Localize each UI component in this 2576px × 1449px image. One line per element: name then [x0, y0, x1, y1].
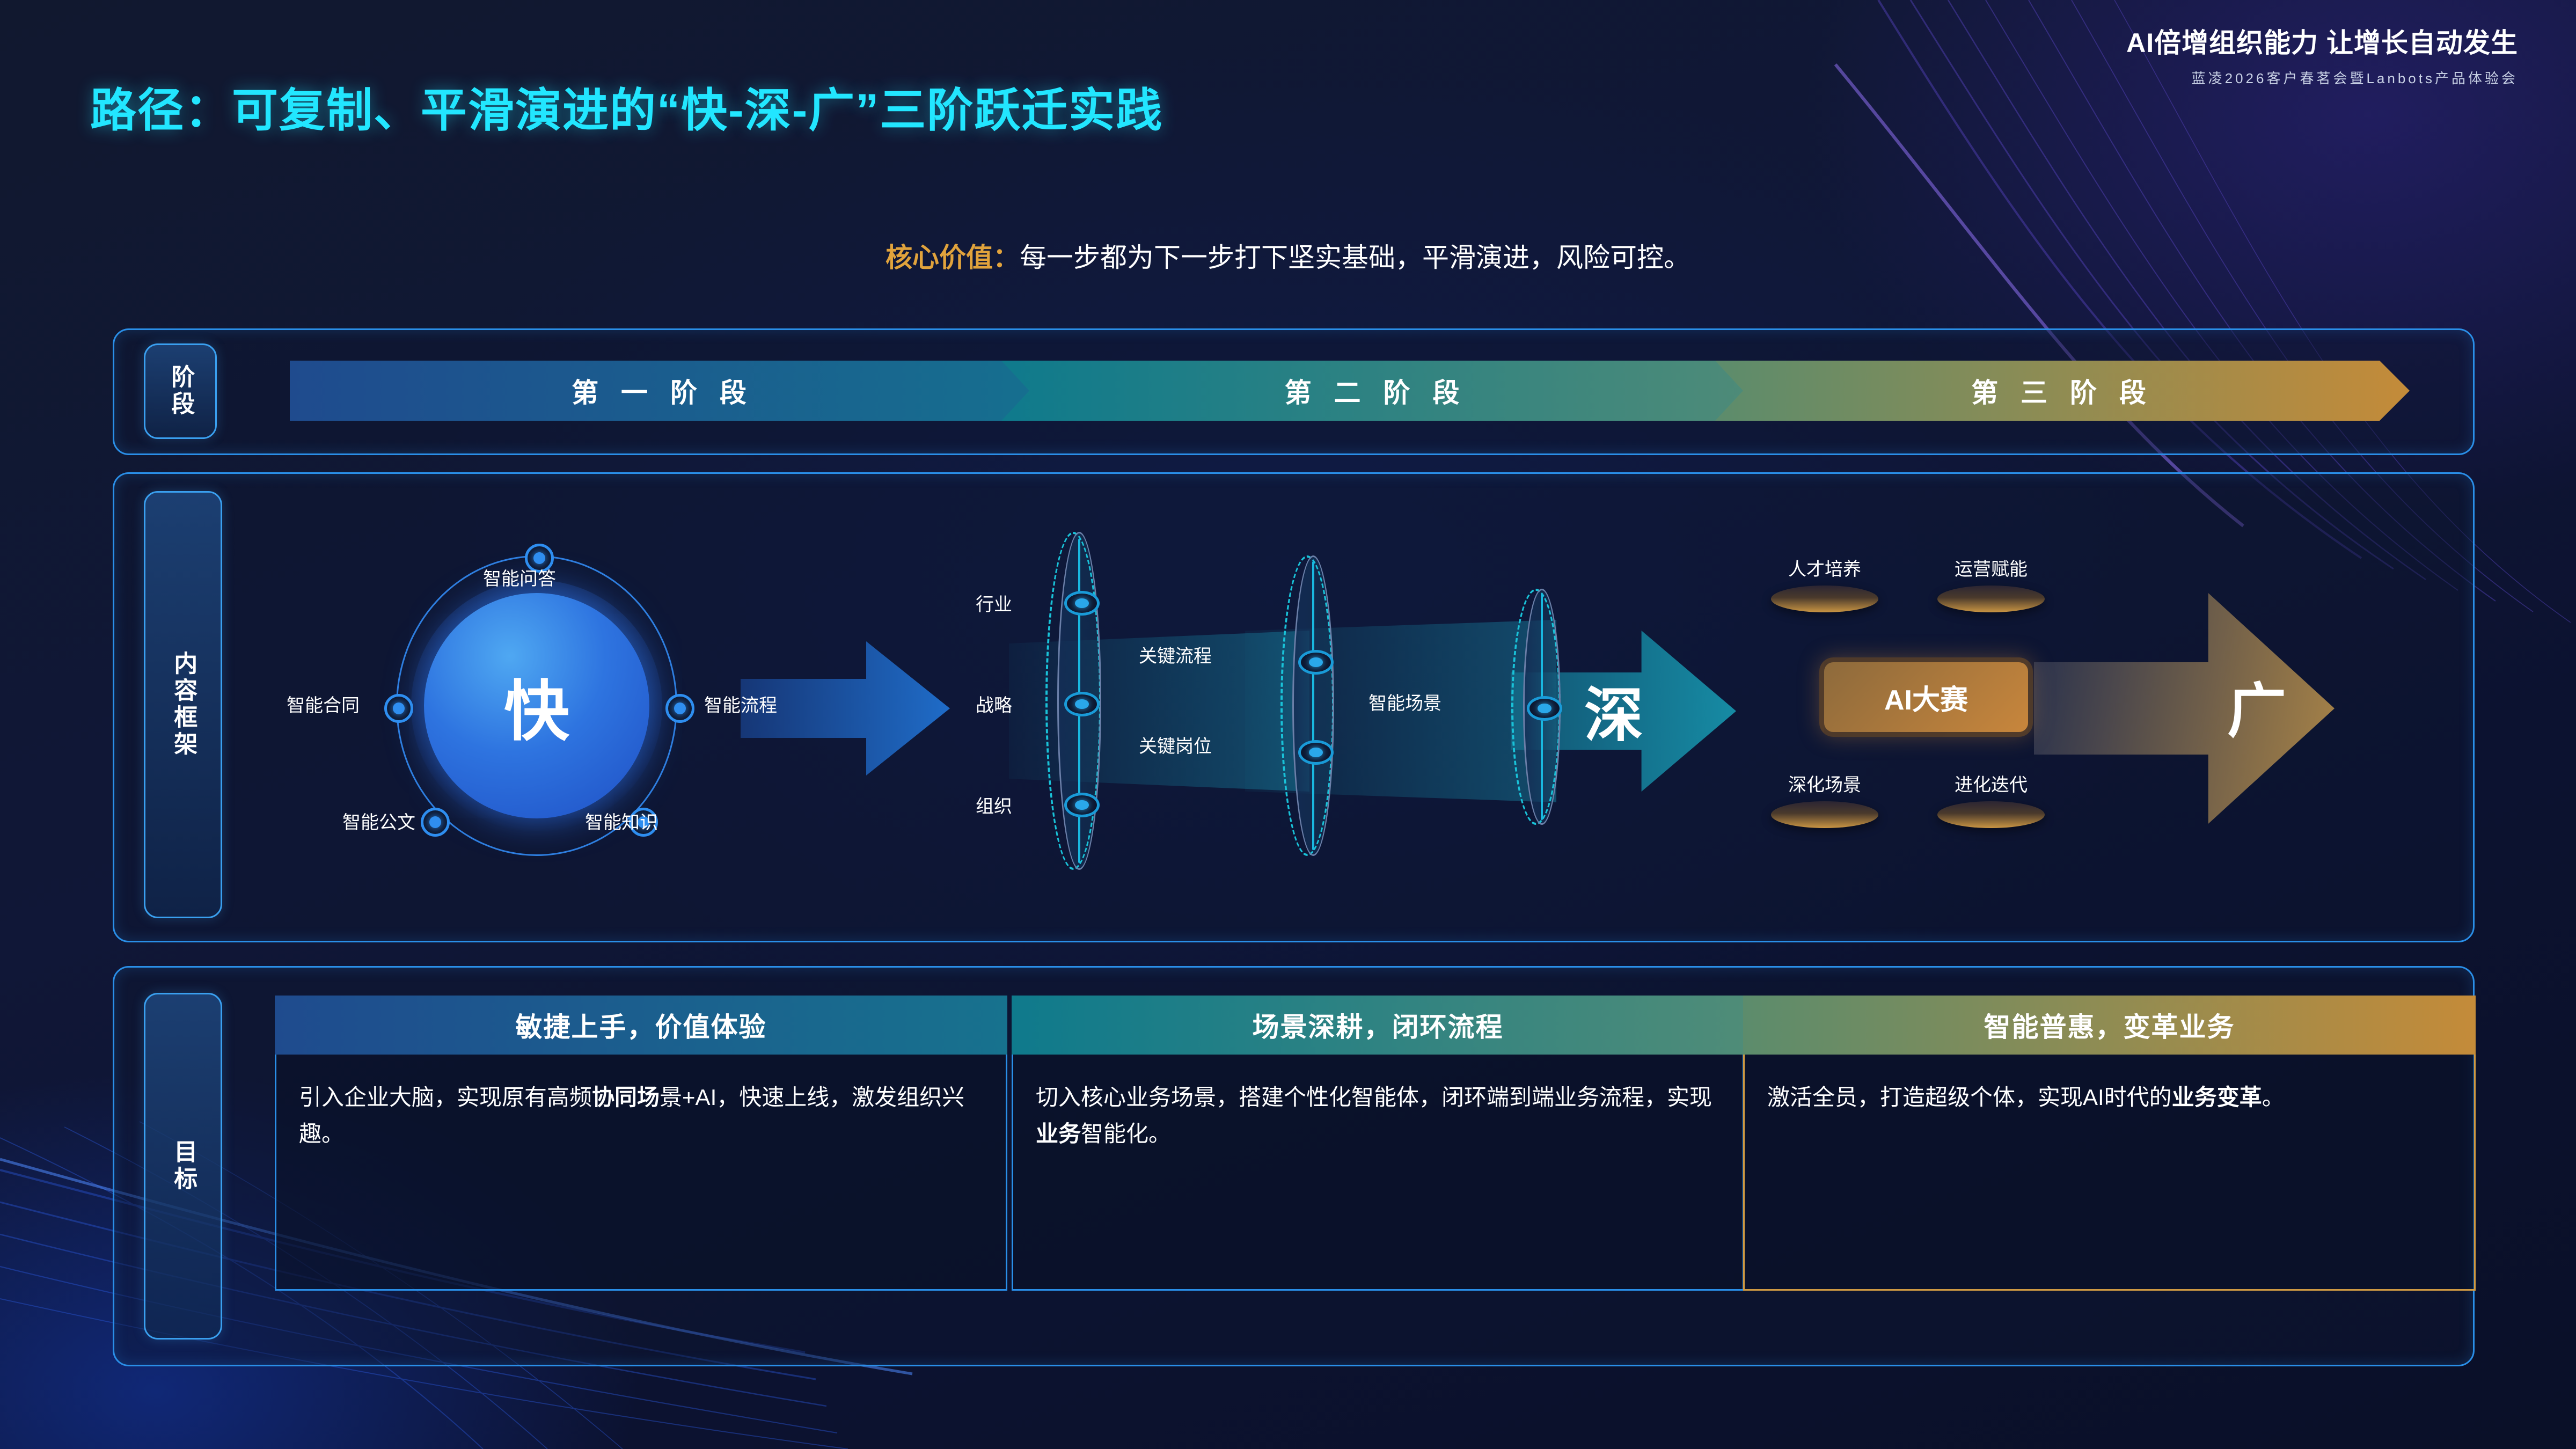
gate-1-node-1[interactable]: [1064, 591, 1100, 616]
stage-3-platform-top-left: [1771, 586, 1878, 612]
goal-card-2-body-pre: 切入核心业务场景，搭建个性化智能体，闭环端到端业务流程，实现: [1036, 1085, 1712, 1110]
gate-3-node-1[interactable]: [1527, 696, 1562, 721]
goal-card-3-body-post: 。: [2262, 1085, 2285, 1110]
stage-3-center-label: AI大赛: [1884, 677, 1968, 718]
phase-chevron-3[interactable]: 第 三 阶 段: [1715, 361, 2410, 421]
core-value-subtitle: 核心价值：每一步都为下一步打下坚实基础，平滑演进，风险可控。: [0, 236, 2576, 275]
stage-1-core-label: 快: [504, 658, 569, 753]
brand-main-text: AI倍增组织能力 让增长自动发生: [2126, 21, 2518, 60]
gate-2-spine: [1312, 561, 1314, 850]
phase-chevron-1-label: 第 一 阶 段: [572, 371, 754, 410]
gate-2-node-1[interactable]: [1298, 650, 1334, 675]
goal-card-2-title: 场景深耕，闭环流程: [1012, 996, 1744, 1055]
stage-2-gate-2-label-1: 关键流程: [1139, 641, 1212, 668]
stage-2-gate-1-label-1: 行业: [976, 590, 1012, 616]
goal-card-1-body: 引入企业大脑，实现原有高频协同场景+AI，快速上线，激发组织兴趣。: [275, 1055, 1007, 1291]
stage-3-arrow-icon: [2034, 593, 2334, 824]
gate-2-node-2[interactable]: [1298, 740, 1334, 765]
stage-1-node-left[interactable]: [384, 694, 413, 723]
brand-sub-text: 蓝凌2026客户春茗会暨Lanbots产品体验会: [2126, 68, 2518, 87]
stage-3-platform-top-right: [1937, 586, 2045, 612]
goal-card-3[interactable]: 智能普惠，变革业务 激活全员，打造超级个体，实现AI时代的业务变革。: [1743, 996, 2476, 1291]
stage-1-label-right: 智能流程: [704, 691, 777, 717]
goal-card-2-body-bold: 业务: [1036, 1121, 1081, 1146]
goal-card-3-body: 激活全员，打造超级个体，实现AI时代的业务变革。: [1743, 1055, 2476, 1291]
phase-chevron-2[interactable]: 第 二 阶 段: [1001, 361, 1750, 421]
stage-1-graphic: 快 智能问答 智能合同 智能流程 智能公文 智能知识: [268, 486, 945, 926]
goal-card-2-body: 切入核心业务场景，搭建个性化智能体，闭环端到端业务流程，实现业务智能化。: [1012, 1055, 1744, 1291]
stage-3-platform-label-top-left: 人才培养: [1771, 554, 1878, 581]
stage-1-orbit: 快: [424, 593, 649, 818]
row-label-goal: 目标: [144, 993, 222, 1340]
stage-3-center-box[interactable]: AI大赛: [1819, 657, 2033, 737]
core-value-text: 每一步都为下一步打下坚实基础，平滑演进，风险可控。: [1020, 243, 1690, 273]
stage-1-node-right[interactable]: [665, 694, 694, 723]
stage-1-node-bottom-left[interactable]: [421, 808, 450, 837]
goal-card-2[interactable]: 场景深耕，闭环流程 切入核心业务场景，搭建个性化智能体，闭环端到端业务流程，实现…: [1012, 996, 1744, 1291]
core-value-key: 核心价值: [885, 243, 993, 273]
stage-3-platform-label-top-right: 运营赋能: [1937, 554, 2045, 581]
goal-card-3-body-pre: 激活全员，打造超级个体，实现AI时代的: [1767, 1085, 2172, 1110]
goal-card-3-title: 智能普惠，变革业务: [1743, 996, 2476, 1055]
brand-block: AI倍增组织能力 让增长自动发生 蓝凌2026客户春茗会暨Lanbots产品体验…: [2126, 21, 2518, 87]
stage-2-gate-1-label-3: 组织: [976, 792, 1012, 818]
row-label-goal-text: 目标: [170, 1139, 196, 1193]
phase-chevron-1[interactable]: 第 一 阶 段: [290, 361, 1036, 421]
phase-chevron-2-label: 第 二 阶 段: [1285, 371, 1467, 410]
stage-2-gate-3: [1523, 589, 1561, 825]
stage-3-core-label: 广: [2227, 663, 2286, 749]
stage-1-label-left: 智能合同: [287, 691, 360, 717]
goal-card-1-title: 敏捷上手，价值体验: [275, 996, 1007, 1055]
row-label-content-framework-text: 内容框架: [170, 651, 196, 758]
stage-3-platform-bottom-right: [1937, 801, 2045, 828]
goal-card-1-body-pre: 引入企业大脑，实现原有高频: [299, 1085, 592, 1110]
stage-2-gate-1: [1057, 532, 1101, 870]
goal-card-3-body-bold: 业务变革: [2172, 1085, 2262, 1110]
stage-2-core-label: 深: [1584, 667, 1643, 753]
stage-3-graphic: 广 人才培养 运营赋能 AI大赛 深化场景 进化迭代: [1733, 486, 2471, 926]
stage-2-gate-1-label-2: 战略: [976, 691, 1012, 717]
goal-card-1-body-bold: 协同场: [592, 1085, 660, 1110]
goal-card-2-body-post: 智能化。: [1081, 1121, 1171, 1146]
stage-1-label-top: 智能问答: [483, 564, 556, 590]
stage-3-platform-label-bottom-left: 深化场景: [1771, 770, 1878, 796]
slide-root: 路径：可复制、平滑演进的“快-深-广”三阶跃迁实践 AI倍增组织能力 让增长自动…: [0, 0, 2576, 1449]
stage-3-platform-bottom-left: [1771, 801, 1878, 828]
core-value-separator: ：: [993, 243, 1020, 273]
stage-2-graphic: 深 行业 战略 组织 关键流程 关键岗位: [945, 486, 1733, 926]
page-title: 路径：可复制、平滑演进的“快-深-广”三阶跃迁实践: [90, 72, 1163, 140]
stage-2-gate-3-label-1: 智能场景: [1368, 689, 1441, 715]
stage-1-core-orb: 快: [424, 593, 649, 818]
row-label-content-framework: 内容框架: [144, 491, 222, 918]
goal-card-1[interactable]: 敏捷上手，价值体验 引入企业大脑，实现原有高频协同场景+AI，快速上线，激发组织…: [275, 996, 1007, 1291]
row-label-phase-text: 阶段: [167, 364, 193, 418]
gate-1-node-2[interactable]: [1064, 692, 1100, 716]
gate-1-node-3[interactable]: [1064, 793, 1100, 817]
stage-2-gate-2-label-2: 关键岗位: [1139, 731, 1212, 758]
row-label-phase: 阶段: [144, 343, 217, 439]
stage-2-gate-2: [1292, 555, 1334, 856]
phase-chevron-3-label: 第 三 阶 段: [1971, 371, 2154, 410]
stage-1-label-bottom-right: 智能知识: [585, 808, 658, 834]
stage-1-label-bottom-left: 智能公文: [342, 808, 415, 834]
stage-3-platform-label-bottom-right: 进化迭代: [1937, 770, 2045, 796]
